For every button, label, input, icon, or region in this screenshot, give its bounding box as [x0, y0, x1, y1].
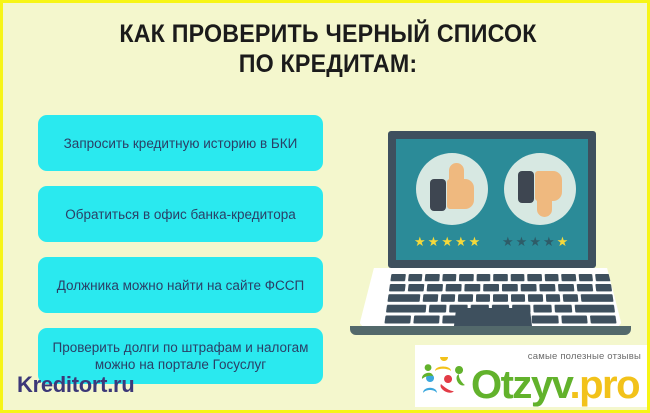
key: [493, 274, 507, 281]
key: [539, 284, 555, 291]
key: [408, 284, 425, 291]
key: [527, 274, 541, 281]
key: [510, 274, 524, 281]
key: [425, 274, 440, 281]
rating-stars-negative: ★ ★ ★ ★ ★: [502, 235, 568, 248]
star-icon: ★: [414, 235, 426, 248]
key: [577, 284, 594, 291]
logo-block: самые полезные отзывы Otzyv.pro: [415, 345, 647, 407]
page-title: КАК ПРОВЕРИТЬ ЧЕРНЫЙ СПИСОК ПО КРЕДИТАМ:: [26, 19, 631, 79]
key: [483, 284, 499, 291]
key: [408, 274, 423, 281]
key: [511, 294, 526, 302]
logo-tagline: самые полезные отзывы: [528, 351, 641, 362]
key: [427, 284, 443, 291]
key: [389, 284, 406, 291]
steps-list: Запросить кредитную историю в БКИ Обрати…: [38, 115, 323, 384]
keyboard-row: [389, 284, 612, 291]
sleeve-shape: [518, 171, 534, 203]
logo-word-dot: .: [569, 363, 579, 407]
key: [528, 294, 543, 302]
key: [476, 294, 491, 302]
key: [590, 315, 617, 323]
star-icon: ★: [469, 235, 481, 248]
key: [440, 294, 455, 302]
key: [561, 274, 576, 281]
star-icon: ★: [428, 235, 440, 248]
key: [458, 294, 473, 302]
star-icon: ★: [455, 235, 467, 248]
key: [386, 305, 426, 313]
key: [390, 274, 405, 281]
key: [533, 305, 551, 313]
key: [464, 284, 480, 291]
laptop-screen: ★ ★ ★ ★ ★ ★ ★ ★ ★ ★: [396, 139, 588, 260]
step-item-1: Запросить кредитную историю в БКИ: [38, 115, 323, 171]
star-icon: ★: [543, 235, 555, 248]
thumbs-down-badge: [504, 153, 576, 225]
key: [561, 315, 588, 323]
logo-wordmark: Otzyv.pro: [471, 363, 639, 407]
rating-stars-positive: ★ ★ ★ ★ ★: [414, 235, 480, 248]
key: [387, 294, 420, 302]
star-icon: ★: [502, 235, 514, 248]
step-label: Запросить кредитную историю в БКИ: [64, 135, 298, 152]
laptop-illustration: ★ ★ ★ ★ ★ ★ ★ ★ ★ ★: [348, 131, 633, 346]
logo-word-main: Otzyv: [471, 363, 569, 407]
laptop-base-shadow: [350, 326, 631, 335]
keyboard-row: [387, 294, 613, 302]
key: [445, 284, 461, 291]
key: [578, 274, 593, 281]
key: [544, 274, 559, 281]
key: [459, 274, 473, 281]
step-item-3: Должника можно найти на сайте ФССП: [38, 257, 323, 313]
key: [558, 284, 574, 291]
key: [476, 274, 490, 281]
logo-word-tld: pro: [579, 363, 639, 407]
key: [595, 274, 610, 281]
star-icon: ★: [441, 235, 453, 248]
key: [414, 315, 441, 323]
step-label: Проверить долги по штрафам и налогам мож…: [46, 339, 315, 373]
key: [384, 315, 411, 323]
sleeve-shape: [430, 179, 446, 211]
site-watermark: Kreditort.ru: [17, 372, 134, 398]
key: [563, 294, 578, 302]
step-item-2: Обратиться в офис банка-кредитора: [38, 186, 323, 242]
key: [502, 284, 518, 291]
thumbs-up-badge: [416, 153, 488, 225]
key: [554, 305, 572, 313]
keyboard-row: [390, 274, 610, 281]
key: [546, 294, 561, 302]
key: [521, 284, 537, 291]
title-line-2: ПО КРЕДИТАМ:: [26, 49, 631, 79]
key: [493, 294, 508, 302]
otzyv-people-logo-icon: [421, 357, 469, 401]
laptop-lid: ★ ★ ★ ★ ★ ★ ★ ★ ★ ★: [388, 131, 596, 268]
thumb-shape: [449, 163, 464, 185]
laptop-base: [348, 268, 633, 338]
title-line-1: КАК ПРОВЕРИТЬ ЧЕРНЫЙ СПИСОК: [26, 19, 631, 49]
star-icon: ★: [557, 235, 569, 248]
thumb-shape: [537, 195, 552, 217]
laptop-base-body: [358, 268, 623, 330]
key: [423, 294, 438, 302]
key: [429, 305, 447, 313]
infographic-canvas: КАК ПРОВЕРИТЬ ЧЕРНЫЙ СПИСОК ПО КРЕДИТАМ:…: [0, 0, 650, 413]
step-label: Обратиться в офис банка-кредитора: [65, 206, 295, 223]
star-icon: ★: [516, 235, 528, 248]
key: [575, 305, 615, 313]
step-label: Должника можно найти на сайте ФССП: [57, 277, 305, 294]
key: [595, 284, 612, 291]
star-icon: ★: [529, 235, 541, 248]
key: [442, 274, 457, 281]
key: [581, 294, 614, 302]
key: [532, 315, 558, 323]
